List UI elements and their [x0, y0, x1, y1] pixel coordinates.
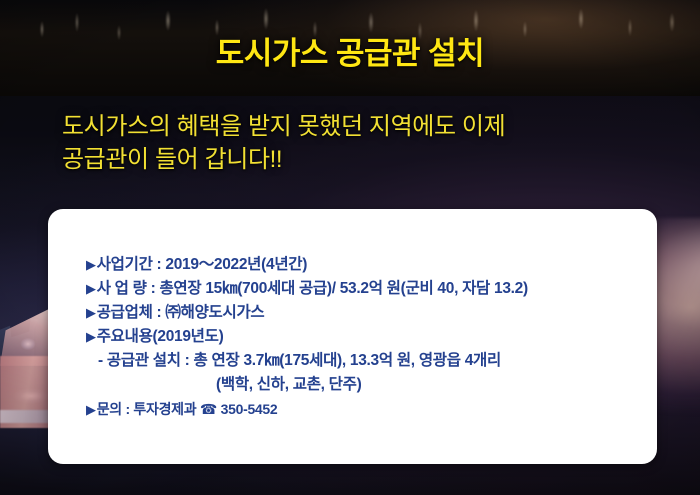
telephone-icon-line-text: 문의 : 투자경제과 ☎ 350-5452: [97, 401, 278, 417]
slide-subtitle-line-2: 공급관이 들어 갑니다!!: [62, 143, 642, 176]
bullet-triangle-icon: ▶: [86, 281, 97, 296]
bullet-triangle-icon: ▶: [86, 305, 97, 320]
info-line-contact: ▶문의 : 투자경제과 ☎ 350-5452: [86, 397, 647, 422]
info-line-pipe-install-detail: - 공급관 설치 : 총 연장 3.7㎞(175세대), 13.3억 원, 영광…: [86, 349, 647, 373]
slide-subtitle: 도시가스의 혜택을 받지 못했던 지역에도 이제 공급관이 들어 갑니다!!: [62, 110, 642, 176]
slide-title: 도시가스 공급관 설치: [0, 28, 700, 73]
info-card: ▶사업기간 : 2019～2022년(4년간) ▶사 업 량 : 총연장 15㎞…: [48, 209, 657, 464]
info-line-supplier: ▶공급업체 : ㈜해양도시가스: [86, 301, 647, 325]
info-line-village-names: (백학, 신하, 교촌, 단주): [86, 373, 647, 397]
bullet-triangle-icon: ▶: [86, 257, 97, 272]
bullet-triangle-icon: ▶: [86, 402, 97, 417]
presentation-slide: 도시가스 공급관 설치 도시가스의 혜택을 받지 못했던 지역에도 이제 공급관…: [0, 0, 700, 495]
info-card-body: ▶사업기간 : 2019～2022년(4년간) ▶사 업 량 : 총연장 15㎞…: [86, 253, 647, 422]
info-line-project-period-text: 사업기간 : 2019～2022년(4년간): [97, 256, 307, 273]
background-street-lamp-1: [18, 336, 38, 352]
slide-subtitle-line-1: 도시가스의 혜택을 받지 못했던 지역에도 이제: [62, 110, 642, 143]
info-line-project-period: ▶사업기간 : 2019～2022년(4년간): [86, 253, 647, 277]
info-line-project-scale-text: 사 업 량 : 총연장 15㎞(700세대 공급)/ 53.2억 원(군비 40…: [97, 280, 528, 297]
info-line-main-content-heading: ▶주요내용(2019년도): [86, 325, 647, 349]
info-line-project-scale: ▶사 업 량 : 총연장 15㎞(700세대 공급)/ 53.2억 원(군비 4…: [86, 277, 647, 301]
info-line-main-content-heading-text: 주요내용(2019년도): [97, 328, 224, 345]
bullet-triangle-icon: ▶: [86, 329, 97, 344]
info-line-supplier-text: 공급업체 : ㈜해양도시가스: [97, 304, 265, 321]
